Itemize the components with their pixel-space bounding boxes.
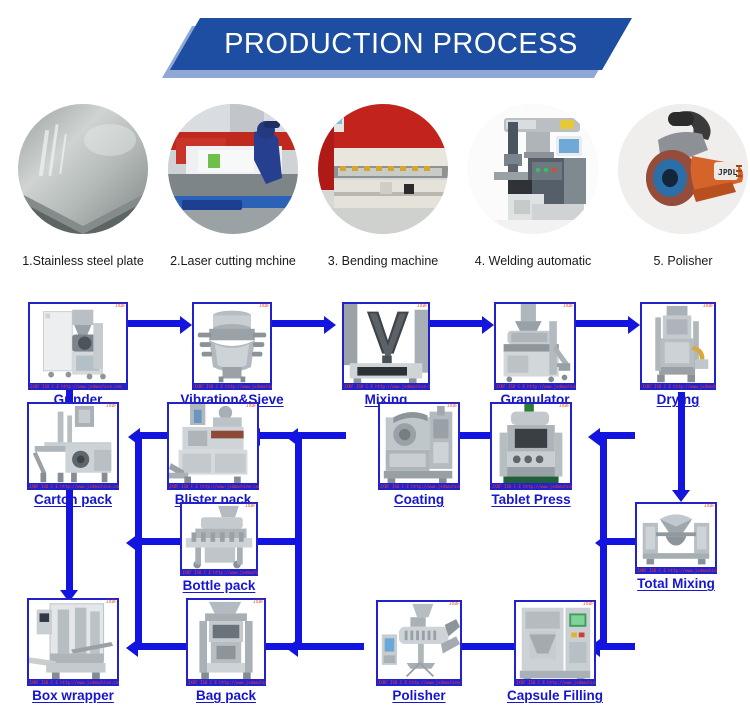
node-granulator[interactable]: JXDF JXDF ISO C E http://www.jxdmachine.…: [494, 302, 576, 390]
node-total-mixing[interactable]: JXDF JXDF ISO C E http://www.jxdmachine.…: [635, 502, 717, 574]
watermark-bottom-bar: JXDF ISO C E http://www.jxdmachine.com: [640, 383, 716, 390]
coating-image: [378, 402, 460, 490]
watermark-bottom-bar: JXDF ISO C E http://www.jxdmachine.com: [192, 383, 272, 390]
capsule-filling-image: [514, 600, 596, 686]
page-header: PRODUCTION PROCESS: [0, 14, 750, 80]
arrowhead-right: [180, 316, 192, 334]
process-photo-row: 1.Stainless steel plate: [0, 104, 750, 274]
watermark-top-right: JXDF: [704, 503, 715, 508]
blister-pack-image: [167, 402, 259, 490]
tablet-press-image: [490, 402, 572, 490]
production-flow-diagram: JXDF JXDF ISO C E http://www.jxdmachine.…: [0, 290, 750, 690]
connector-mixing-to-granulator: [430, 320, 482, 327]
arrowhead-right: [482, 316, 494, 334]
watermark-bottom-bar: JXDF ISO C E http://www.jxdmachine.com: [514, 679, 596, 686]
node-box-wrapper[interactable]: JXDF JXDF ISO C E http://www.jxdmachine.…: [27, 598, 119, 686]
bottle-pack-image: [180, 502, 258, 576]
photo-item-welding-automatic: 4. Welding automatic: [458, 104, 608, 274]
watermark-bottom-bar: JXDF ISO C E http://www.jxdmachine.com: [27, 679, 119, 686]
watermark-top-right: JXDF: [106, 403, 117, 408]
bending-machine-photo: [318, 104, 448, 234]
watermark-bottom-bar: JXDF ISO C E http://www.jxdmachine.com: [490, 483, 572, 490]
photo-caption: 2.Laser cutting mchine: [146, 254, 320, 268]
watermark-bottom-bar: JXDF ISO C E http://www.jxdmachine.com: [28, 383, 128, 390]
node-bottle-pack[interactable]: JXDF JXDF ISO C E http://www.jxdmachine.…: [180, 502, 258, 576]
node-label-carton-pack: Carton pack: [34, 492, 112, 507]
watermark-top-right: JXDF: [259, 303, 270, 308]
watermark-top-right: JXDF: [253, 599, 264, 604]
photo-item-polisher: JPDL 5. Polisher: [608, 104, 750, 274]
watermark-top-right: JXDF: [115, 303, 126, 308]
photo-item-stainless-steel-plate: 1.Stainless steel plate: [8, 104, 158, 274]
watermark-top-right: JXDF: [703, 303, 714, 308]
node-label-tablet-press: Tablet Press: [491, 492, 570, 507]
laser-cutting-machine-photo: [168, 104, 298, 234]
arrowhead-down: [672, 490, 690, 502]
connector-coating-to-bus: [298, 432, 346, 439]
grinder-image: [28, 302, 128, 390]
watermark-top-right: JXDF: [559, 403, 570, 408]
connector-bus-to-tablet-press: [600, 432, 635, 439]
photo-caption: 3. Bending machine: [296, 254, 470, 268]
arrowhead-left: [595, 534, 607, 552]
watermark-top-right: JXDF: [449, 601, 460, 606]
polisher-photo: JPDL: [618, 104, 748, 234]
carton-pack-image: [27, 402, 119, 490]
bus-right-vertical-lower: [600, 538, 607, 650]
node-label-total-mixing: Total Mixing: [637, 576, 715, 591]
polisher-machine-image: [376, 600, 462, 686]
watermark-top-right: JXDF: [106, 599, 117, 604]
bus-right-vertical: [600, 432, 607, 542]
photo-item-bending-machine: 3. Bending machine: [308, 104, 458, 274]
connector-bus-to-capsule-filling: [600, 643, 635, 650]
watermark-bottom-bar: JXDF ISO C E http://www.jxdmachine.com: [376, 679, 462, 686]
connector-bag-pack-to-box-wrapper: [138, 643, 192, 650]
photo-caption: 1.Stainless steel plate: [0, 254, 170, 268]
vibration-sieve-image: [192, 302, 272, 390]
connector-polisher-to-bus: [298, 643, 364, 650]
node-polisher[interactable]: JXDF JXDF ISO C E http://www.jxdmachine.…: [376, 600, 462, 686]
watermark-top-right: JXDF: [563, 303, 574, 308]
watermark-bottom-bar: JXDF ISO C E http://www.jxdmachine.com: [635, 567, 717, 574]
connector-bus-to-bottle-pack: [258, 538, 300, 545]
node-label-capsule-filling: Capsule Filling: [507, 688, 603, 703]
watermark-bottom-bar: JXDF ISO C E http://www.jxdmachine.com: [167, 483, 259, 490]
watermark-top-right: JXDF: [246, 403, 257, 408]
arrowhead-left: [126, 534, 138, 552]
node-blister-pack[interactable]: JXDF JXDF ISO C E http://www.jxdmachine.…: [167, 402, 259, 490]
watermark-bottom-bar: JXDF ISO C E http://www.jxdmachine.com: [180, 569, 258, 576]
photo-caption: 5. Polisher: [596, 254, 750, 268]
node-carton-pack[interactable]: JXDF JXDF ISO C E http://www.jxdmachine.…: [27, 402, 119, 490]
watermark-bottom-bar: JXDF ISO C E http://www.jxdmachine.com: [27, 483, 119, 490]
svg-text:JPDL: JPDL: [718, 168, 737, 177]
page-title: PRODUCTION PROCESS: [170, 18, 632, 70]
watermark-top-right: JXDF: [245, 503, 256, 508]
node-label-bottle-pack: Bottle pack: [183, 578, 256, 593]
node-grinder[interactable]: JXDF JXDF ISO C E http://www.jxdmachine.…: [28, 302, 128, 390]
node-label-bag-pack: Bag pack: [196, 688, 256, 703]
drying-image: [640, 302, 716, 390]
arrowhead-left: [126, 639, 138, 657]
node-label-polisher: Polisher: [392, 688, 445, 703]
connector-granulator-to-drying: [576, 320, 628, 327]
photo-item-laser-cutting-machine: 2.Laser cutting mchine: [158, 104, 308, 274]
connector-capsule-to-polisher: [458, 643, 514, 650]
node-label-drying: Drying: [657, 392, 700, 407]
bag-pack-image: [186, 598, 266, 686]
photo-caption: 4. Welding automatic: [446, 254, 620, 268]
node-mixing[interactable]: JXDF JXDF ISO C E http://www.jxdmachine.…: [342, 302, 430, 390]
watermark-bottom-bar: JXDF ISO C E http://www.jxdmachine.com: [186, 679, 266, 686]
node-tablet-press[interactable]: JXDF JXDF ISO C E http://www.jxdmachine.…: [490, 402, 572, 490]
watermark-bottom-bar: JXDF ISO C E http://www.jxdmachine.com: [342, 383, 430, 390]
node-capsule-filling[interactable]: JXDF JXDF ISO C E http://www.jxdmachine.…: [514, 600, 596, 686]
watermark-top-right: JXDF: [417, 303, 428, 308]
stainless-steel-plate-photo: [18, 104, 148, 234]
connector-vibration-to-mixing: [272, 320, 324, 327]
node-drying[interactable]: JXDF JXDF ISO C E http://www.jxdmachine.…: [640, 302, 716, 390]
connector-grinder-to-vibration: [128, 320, 180, 327]
welding-automatic-photo: [468, 104, 598, 234]
node-coating[interactable]: JXDF JXDF ISO C E http://www.jxdmachine.…: [378, 402, 460, 490]
watermark-top-right: JXDF: [447, 403, 458, 408]
watermark-top-right: JXDF: [583, 601, 594, 606]
connector-drying-to-total-mixing: [678, 392, 685, 492]
node-label-coating: Coating: [394, 492, 444, 507]
node-vibration-sieve[interactable]: JXDF JXDF ISO C E http://www.jxdmachine.…: [192, 302, 272, 390]
arrowhead-right: [628, 316, 640, 334]
arrowhead-left: [128, 428, 140, 446]
arrowhead-left: [286, 428, 298, 446]
arrowhead-left: [588, 428, 600, 446]
arrowhead-left: [286, 639, 298, 657]
watermark-bottom-bar: JXDF ISO C E http://www.jxdmachine.com: [494, 383, 576, 390]
arrowhead-right: [324, 316, 336, 334]
watermark-bottom-bar: JXDF ISO C E http://www.jxdmachine.com: [378, 483, 460, 490]
mixing-image: [342, 302, 430, 390]
node-label-box-wrapper: Box wrapper: [32, 688, 114, 703]
total-mixing-image: [635, 502, 717, 574]
box-wrapper-image: [27, 598, 119, 686]
granulator-image: [494, 302, 576, 390]
node-bag-pack[interactable]: JXDF JXDF ISO C E http://www.jxdmachine.…: [186, 598, 266, 686]
